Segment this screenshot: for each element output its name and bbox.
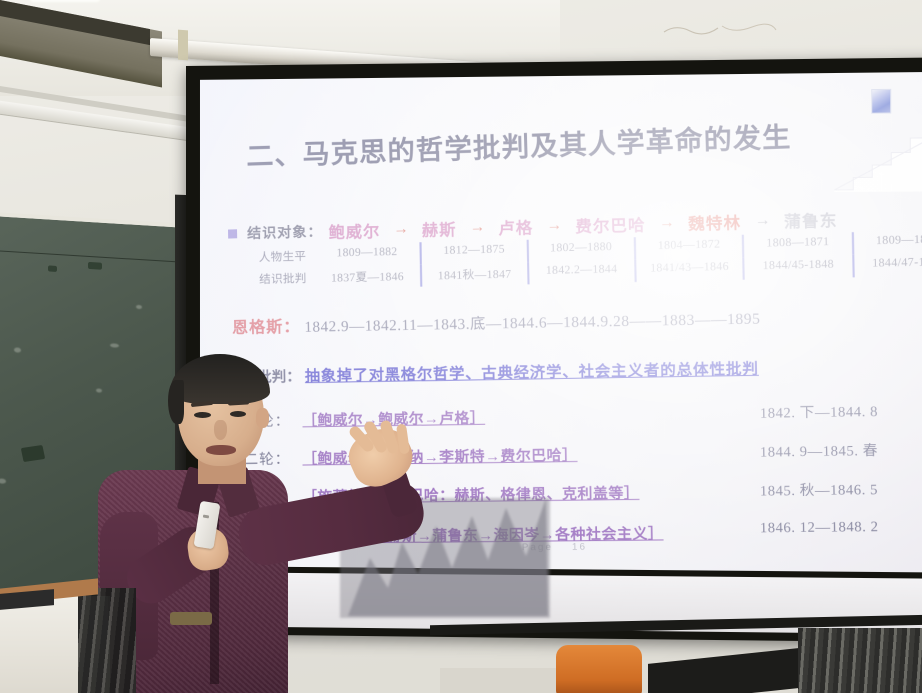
lifespan-cell: 1804—1872 xyxy=(634,235,743,260)
chalk-dust xyxy=(110,343,119,348)
critique-cell: 1844/47-1865 xyxy=(852,252,922,277)
blackboard-mark xyxy=(88,262,102,270)
nose xyxy=(214,420,227,440)
name-ruge: 卢格 xyxy=(498,214,533,239)
square-bullet-icon xyxy=(228,229,237,238)
slide-logo-icon xyxy=(871,89,891,114)
row-label-lifespan: 人物生平 xyxy=(240,245,315,269)
name-feuerbach: 费尔巴哈 xyxy=(575,211,646,237)
chalk-dust xyxy=(136,305,142,309)
critique-cell: 1841/43—1846 xyxy=(634,257,743,282)
name-proudhon: 蒲鲁东 xyxy=(784,207,838,233)
eye-left xyxy=(194,412,211,418)
name-bauer: 鲍威尔 xyxy=(328,218,380,243)
row-label-critique: 结识批判 xyxy=(240,267,315,291)
classroom-scene: 二、马克思的哲学批判及其人学革命的发生 结识对象： 鲍威尔 → 赫斯 → 卢格 … xyxy=(0,0,922,693)
name-weitling: 魏特林 xyxy=(688,209,742,235)
arrow-icon: → xyxy=(546,217,562,235)
acquaintance-row-label: 结识对象： xyxy=(247,221,323,243)
wall-pencil-marks xyxy=(660,22,780,38)
engels-row: 恩格斯： 1842.9—1842.11—1843.底—1844.6—1844.9… xyxy=(232,300,922,338)
critique-cell: 1844/45-1848 xyxy=(743,255,853,280)
name-hess: 赫斯 xyxy=(422,216,457,241)
window-blinds xyxy=(798,628,922,693)
lifespan-cell: 1812—1875 xyxy=(420,240,527,265)
arrow-icon: → xyxy=(393,221,409,239)
arrow-icon: → xyxy=(755,212,771,230)
blackboard-mark xyxy=(48,265,57,272)
wall-hook xyxy=(170,612,212,625)
critique-cell: 1842.2—1844 xyxy=(527,260,635,285)
blackboard-eraser xyxy=(21,445,45,462)
lifespan-cell: 1809—1882 xyxy=(314,242,420,267)
lifespan-cell: 1808—1871 xyxy=(742,232,852,257)
lecturer-hair xyxy=(170,354,270,404)
critique-cell: 1841秋—1847 xyxy=(420,262,527,287)
orange-chair xyxy=(556,645,642,693)
page-value: 16 xyxy=(572,541,587,552)
roller-bracket xyxy=(178,30,188,61)
wall-poster xyxy=(78,588,136,693)
arrow-icon: → xyxy=(470,219,486,237)
slide-page-number: Page 16 xyxy=(522,541,587,553)
lecturer-ear xyxy=(256,408,269,428)
lifespan-cell: 1802—1880 xyxy=(526,237,634,262)
lecturer-hair-side xyxy=(168,380,184,424)
engels-dates: 1842.9—1842.11—1843.底—1844.6—1844.9.28——… xyxy=(304,311,760,336)
round-3-date: 1845. 秋—1846. 5 xyxy=(760,479,878,501)
engels-label: 恩格斯： xyxy=(232,319,301,337)
slide-title: 二、马克思的哲学批判及其人学革命的发生 xyxy=(246,110,922,174)
mouth xyxy=(206,445,236,455)
round-1-date: 1842. 下—1844. 8 xyxy=(760,401,878,423)
ceiling-light xyxy=(30,0,100,2)
round-4-date: 1846. 12—1848. 2 xyxy=(760,520,879,538)
lifespan-cell: 1809—1865 xyxy=(851,230,922,255)
page-label: Page xyxy=(522,542,553,553)
arrow-icon: → xyxy=(659,214,675,232)
chalk-dust xyxy=(14,347,21,352)
chalk-dust xyxy=(0,478,6,483)
eye-right xyxy=(230,411,246,417)
critique-cell: 1837夏—1846 xyxy=(315,265,421,289)
round-2-date: 1844. 9—1845. 春 xyxy=(760,440,878,462)
